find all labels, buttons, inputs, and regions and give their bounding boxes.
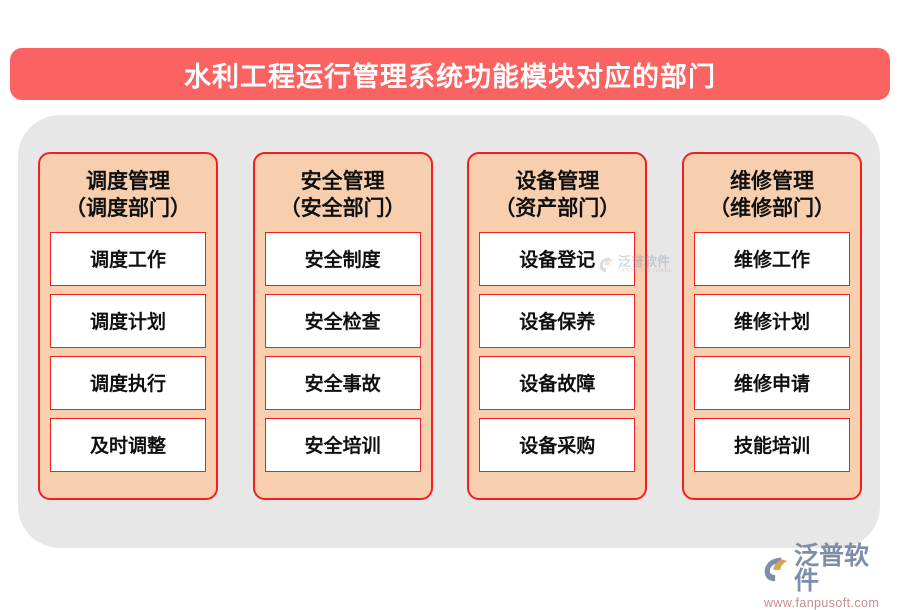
logo-row: 泛普软件 (762, 544, 892, 594)
module-cell-list: 维修工作 维修计划 维修申请 技能培训 (694, 232, 850, 488)
column-header-line2: （资产部门） (479, 195, 635, 222)
module-cell[interactable]: 安全事故 (265, 356, 421, 410)
brand-logo: 泛普软件 www.fanpusoft.com (762, 544, 892, 590)
module-cell[interactable]: 调度执行 (50, 356, 206, 410)
module-column-safety[interactable]: 安全管理 （安全部门） 安全制度 安全检查 安全事故 安全培训 (253, 152, 433, 500)
module-cell[interactable]: 设备采购 (479, 418, 635, 472)
module-cell[interactable]: 安全制度 (265, 232, 421, 286)
logo-url: www.fanpusoft.com (764, 596, 879, 610)
column-header-line1: 调度管理 (50, 168, 206, 195)
column-header-line1: 设备管理 (479, 168, 635, 195)
module-column-dispatch[interactable]: 调度管理 （调度部门） 调度工作 调度计划 调度执行 及时调整 (38, 152, 218, 500)
module-cell[interactable]: 维修工作 (694, 232, 850, 286)
module-cell[interactable]: 安全检查 (265, 294, 421, 348)
module-cell[interactable]: 安全培训 (265, 418, 421, 472)
module-cell[interactable]: 维修申请 (694, 356, 850, 410)
column-header-line2: （安全部门） (265, 195, 421, 222)
fanpu-swoosh-icon (762, 555, 790, 583)
column-header: 设备管理 （资产部门） (479, 164, 635, 232)
module-column-maintenance[interactable]: 维修管理 （维修部门） 维修工作 维修计划 维修申请 技能培训 (682, 152, 862, 500)
column-header-line2: （调度部门） (50, 195, 206, 222)
logo-name: 泛普软件 (794, 544, 892, 594)
column-header: 维修管理 （维修部门） (694, 164, 850, 232)
module-cell[interactable]: 技能培训 (694, 418, 850, 472)
column-header: 调度管理 （调度部门） (50, 164, 206, 232)
module-cell[interactable]: 及时调整 (50, 418, 206, 472)
column-header-line2: （维修部门） (694, 195, 850, 222)
column-header-line1: 维修管理 (694, 168, 850, 195)
column-header: 安全管理 （安全部门） (265, 164, 421, 232)
module-cell[interactable]: 维修计划 (694, 294, 850, 348)
title-banner: 水利工程运行管理系统功能模块对应的部门 (10, 48, 890, 100)
module-column-equipment[interactable]: 设备管理 （资产部门） 设备登记 设备保养 设备故障 设备采购 (467, 152, 647, 500)
module-columns: 调度管理 （调度部门） 调度工作 调度计划 调度执行 及时调整 安全管理 （安全… (38, 152, 862, 500)
column-header-line1: 安全管理 (265, 168, 421, 195)
module-cell-list: 安全制度 安全检查 安全事故 安全培训 (265, 232, 421, 488)
module-cell[interactable]: 调度计划 (50, 294, 206, 348)
module-cell[interactable]: 设备保养 (479, 294, 635, 348)
module-cell-list: 设备登记 设备保养 设备故障 设备采购 (479, 232, 635, 488)
module-cell[interactable]: 设备故障 (479, 356, 635, 410)
page-title: 水利工程运行管理系统功能模块对应的部门 (184, 55, 716, 94)
module-cell[interactable]: 设备登记 (479, 232, 635, 286)
module-cell-list: 调度工作 调度计划 调度执行 及时调整 (50, 232, 206, 488)
module-cell[interactable]: 调度工作 (50, 232, 206, 286)
